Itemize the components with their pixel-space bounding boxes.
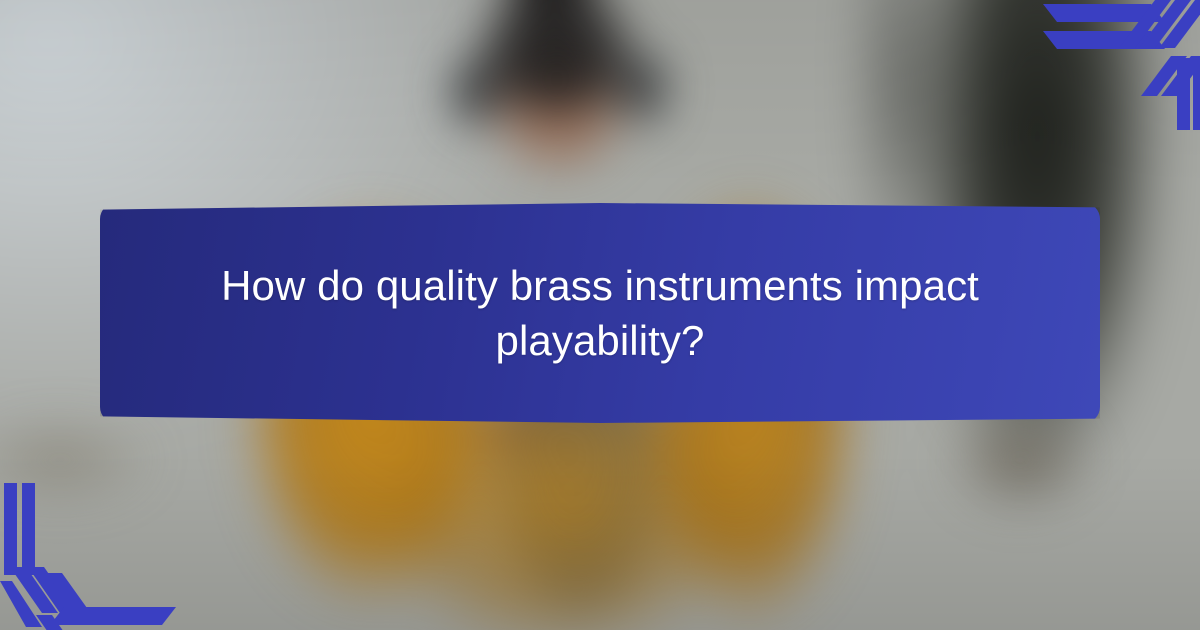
headline-banner-text: How do quality brass instruments impact … <box>100 203 1100 423</box>
page-title: How do quality brass instruments impact … <box>178 258 1022 369</box>
headline-banner: How do quality brass instruments impact … <box>100 203 1100 423</box>
social-share-card: How do quality brass instruments impact … <box>0 0 1200 630</box>
